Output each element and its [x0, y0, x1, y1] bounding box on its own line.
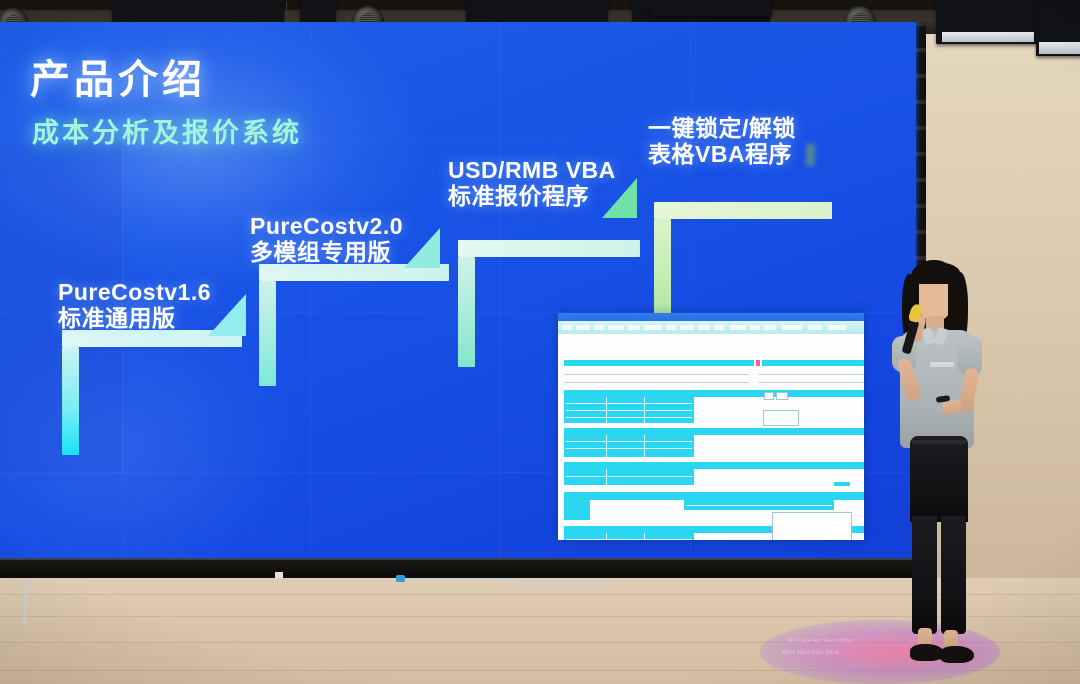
- stage-light-fixture: [1036, 0, 1080, 56]
- step-label-3-line1: USD/RMB VBA: [448, 158, 616, 184]
- spreadsheet-column-separator: [644, 435, 645, 457]
- spreadsheet-column-separator: [606, 397, 607, 423]
- spreadsheet-column-separator: [644, 533, 645, 540]
- step-label-3-line2: 标准报价程序: [448, 184, 616, 210]
- spreadsheet-row-line: [686, 505, 832, 506]
- gobo-text: Work Hard Play Hard: [782, 650, 839, 656]
- spreadsheet-side-button: [776, 392, 788, 400]
- spreadsheet-data-block: [564, 435, 694, 457]
- spreadsheet-screenshot: [558, 313, 864, 540]
- presenter-pants: [910, 436, 968, 522]
- step-bracket-3-horizontal: [458, 240, 640, 257]
- stage-light-fixture: [650, 0, 772, 16]
- presenter: [876, 258, 1000, 684]
- spreadsheet-header-band: [564, 360, 754, 366]
- step-bracket-2-vertical: [259, 281, 276, 386]
- spreadsheet-column-separator: [644, 397, 645, 423]
- spreadsheet-column-separator: [606, 533, 607, 540]
- slide-subtitle: 成本分析及报价系统: [32, 120, 302, 147]
- spreadsheet-grid: [558, 334, 864, 540]
- step-label-4-line1: 一键锁定/解锁: [648, 116, 796, 142]
- led-panel-seam: [500, 22, 501, 575]
- presentation-photo: 产品介绍 成本分析及报价系统 PureCostv1.6 标准: [0, 0, 1080, 684]
- spreadsheet-row-line: [758, 382, 864, 383]
- spreadsheet-row-line: [566, 448, 692, 449]
- spreadsheet-row-line: [566, 539, 692, 540]
- spreadsheet-row-line: [566, 441, 692, 442]
- step-label-4-line2: 表格VBA程序: [648, 142, 796, 168]
- spreadsheet-side-panel: [763, 410, 799, 426]
- step-label-1-line1: PureCostv1.6: [58, 280, 211, 306]
- gobo-text: We Care For Each Other: [788, 638, 854, 644]
- spreadsheet-data-block: [564, 390, 864, 397]
- step-label-1-line2: 标准通用版: [58, 306, 211, 332]
- step-label-2-line1: PureCostv2.0: [250, 214, 403, 240]
- spreadsheet-header-band: [762, 360, 864, 366]
- step-label-3: USD/RMB VBA 标准报价程序: [448, 158, 616, 210]
- spreadsheet-side-button: [764, 392, 774, 400]
- spreadsheet-data-block: [564, 492, 864, 500]
- step-label-4: 一键锁定/解锁 表格VBA程序: [648, 116, 796, 168]
- spreadsheet-row-line: [564, 382, 749, 383]
- spreadsheet-side-panel: [772, 512, 852, 540]
- spreadsheet-data-block: [564, 500, 590, 520]
- led-panel-seam: [310, 22, 311, 575]
- light-hanger-rod: [286, 2, 287, 24]
- spreadsheet-column-separator: [606, 469, 607, 485]
- presenter-belt: [912, 440, 966, 444]
- floor-marker: [275, 572, 283, 578]
- spreadsheet-data-block: [834, 482, 850, 486]
- step-arrow-icon-1: [208, 294, 246, 336]
- floor-cable: [500, 580, 620, 582]
- spreadsheet-data-block: [564, 428, 864, 435]
- spreadsheet-row-line: [566, 417, 692, 418]
- presenter-shoe-left: [910, 644, 944, 661]
- spreadsheet-row-line: [758, 374, 864, 375]
- stage-light-fixture: [300, 0, 336, 22]
- step-label-2: PureCostv2.0 多模组专用版: [250, 214, 403, 266]
- step-label-2-line2: 多模组专用版: [250, 240, 403, 266]
- spreadsheet-data-block: [564, 462, 864, 469]
- step-arrow-icon-2: [404, 228, 440, 268]
- slide-title: 产品介绍: [30, 60, 206, 100]
- floor-power-plug: [396, 575, 405, 582]
- stage-light-fixture: [936, 0, 1040, 44]
- led-video-wall: 产品介绍 成本分析及报价系统 PureCostv1.6 标准: [0, 22, 925, 575]
- spreadsheet-header-band: [756, 360, 760, 366]
- spreadsheet-ribbon: [558, 321, 864, 334]
- step-label-1: PureCostv1.6 标准通用版: [58, 280, 211, 332]
- presenter-shoe-right: [940, 646, 974, 663]
- spreadsheet-column-separator: [606, 435, 607, 457]
- presenter-shirt-logo: [930, 362, 954, 367]
- step-bracket-3-vertical: [458, 257, 475, 367]
- spreadsheet-row-line: [566, 476, 692, 477]
- presenter-pant-leg-left: [912, 516, 937, 634]
- spreadsheet-row-line: [566, 403, 692, 404]
- spreadsheet-title-bar: [558, 313, 864, 321]
- step-bracket-4-horizontal: [654, 202, 832, 219]
- presenter-pant-leg-right: [941, 516, 966, 634]
- floor-cable: [404, 578, 514, 580]
- spreadsheet-row-line: [566, 410, 692, 411]
- step-bracket-1-vertical: [62, 347, 79, 455]
- green-glow-artifact: [806, 144, 815, 166]
- spreadsheet-data-block: [564, 469, 694, 485]
- spreadsheet-row-line: [564, 374, 749, 375]
